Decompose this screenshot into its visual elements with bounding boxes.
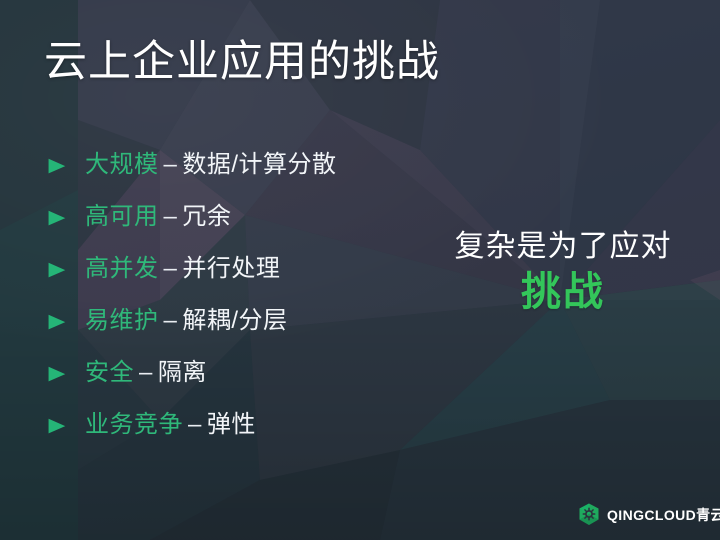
list-item-text: 高并发–并行处理 — [85, 254, 280, 284]
list-item: ▶ 易维护–解耦/分层 — [50, 295, 450, 347]
list-item-description: 弹性 — [207, 411, 256, 438]
list-item-separator: – — [159, 307, 183, 334]
callout-line-emphasis: 挑战 — [438, 268, 688, 316]
list-item-keyword: 业务竞争 — [85, 411, 183, 438]
list-item-text: 业务竞争–弹性 — [85, 410, 256, 440]
list-item: ▶ 大规模–数据/计算分散 — [50, 139, 450, 191]
list-item-keyword: 安全 — [85, 359, 134, 386]
qingcloud-hexagon-logo-icon — [578, 503, 600, 526]
list-item-separator: – — [183, 411, 207, 438]
list-item-text: 高可用–冗余 — [85, 202, 231, 232]
list-item-text: 易维护–解耦/分层 — [85, 306, 288, 336]
triangle-bullet-icon: ▶ — [47, 364, 87, 383]
presentation-slide: 云上企业应用的挑战 ▶ 大规模–数据/计算分散 ▶ 高可用–冗余 ▶ 高并发–并… — [0, 0, 720, 540]
list-item-description: 隔离 — [158, 359, 207, 386]
list-item: ▶ 高并发–并行处理 — [50, 243, 450, 295]
list-item-keyword: 高并发 — [85, 255, 159, 282]
list-item-description: 解耦/分层 — [182, 307, 287, 334]
list-item-description: 冗余 — [182, 203, 231, 230]
callout-line-primary: 复杂是为了应对 — [438, 228, 688, 266]
list-item-keyword: 大规模 — [85, 151, 159, 178]
list-item-description: 数据/计算分散 — [182, 151, 336, 178]
list-item-description: 并行处理 — [182, 255, 280, 282]
triangle-bullet-icon: ▶ — [47, 260, 87, 279]
list-item-separator: – — [159, 203, 183, 230]
triangle-bullet-icon: ▶ — [47, 156, 87, 175]
list-item: ▶ 高可用–冗余 — [50, 191, 450, 243]
triangle-bullet-icon: ▶ — [47, 208, 87, 227]
brand-name: QINGCLOUD青云 — [607, 507, 720, 523]
bullet-list: ▶ 大规模–数据/计算分散 ▶ 高可用–冗余 ▶ 高并发–并行处理 ▶ 易维护–… — [50, 139, 450, 451]
list-item-separator: – — [134, 359, 158, 386]
page-title: 云上企业应用的挑战 — [44, 36, 440, 88]
list-item-text: 安全–隔离 — [85, 358, 207, 388]
list-item-separator: – — [159, 255, 183, 282]
list-item-text: 大规模–数据/计算分散 — [85, 150, 337, 180]
list-item: ▶ 业务竞争–弹性 — [50, 399, 450, 451]
brand-logo: QINGCLOUD青云 — [578, 503, 720, 526]
callout-block: 复杂是为了应对 挑战 — [438, 228, 688, 316]
list-item-keyword: 高可用 — [85, 203, 159, 230]
triangle-bullet-icon: ▶ — [47, 416, 87, 435]
triangle-bullet-icon: ▶ — [47, 312, 87, 331]
list-item-keyword: 易维护 — [85, 307, 159, 334]
list-item: ▶ 安全–隔离 — [50, 347, 450, 399]
list-item-separator: – — [159, 151, 183, 178]
